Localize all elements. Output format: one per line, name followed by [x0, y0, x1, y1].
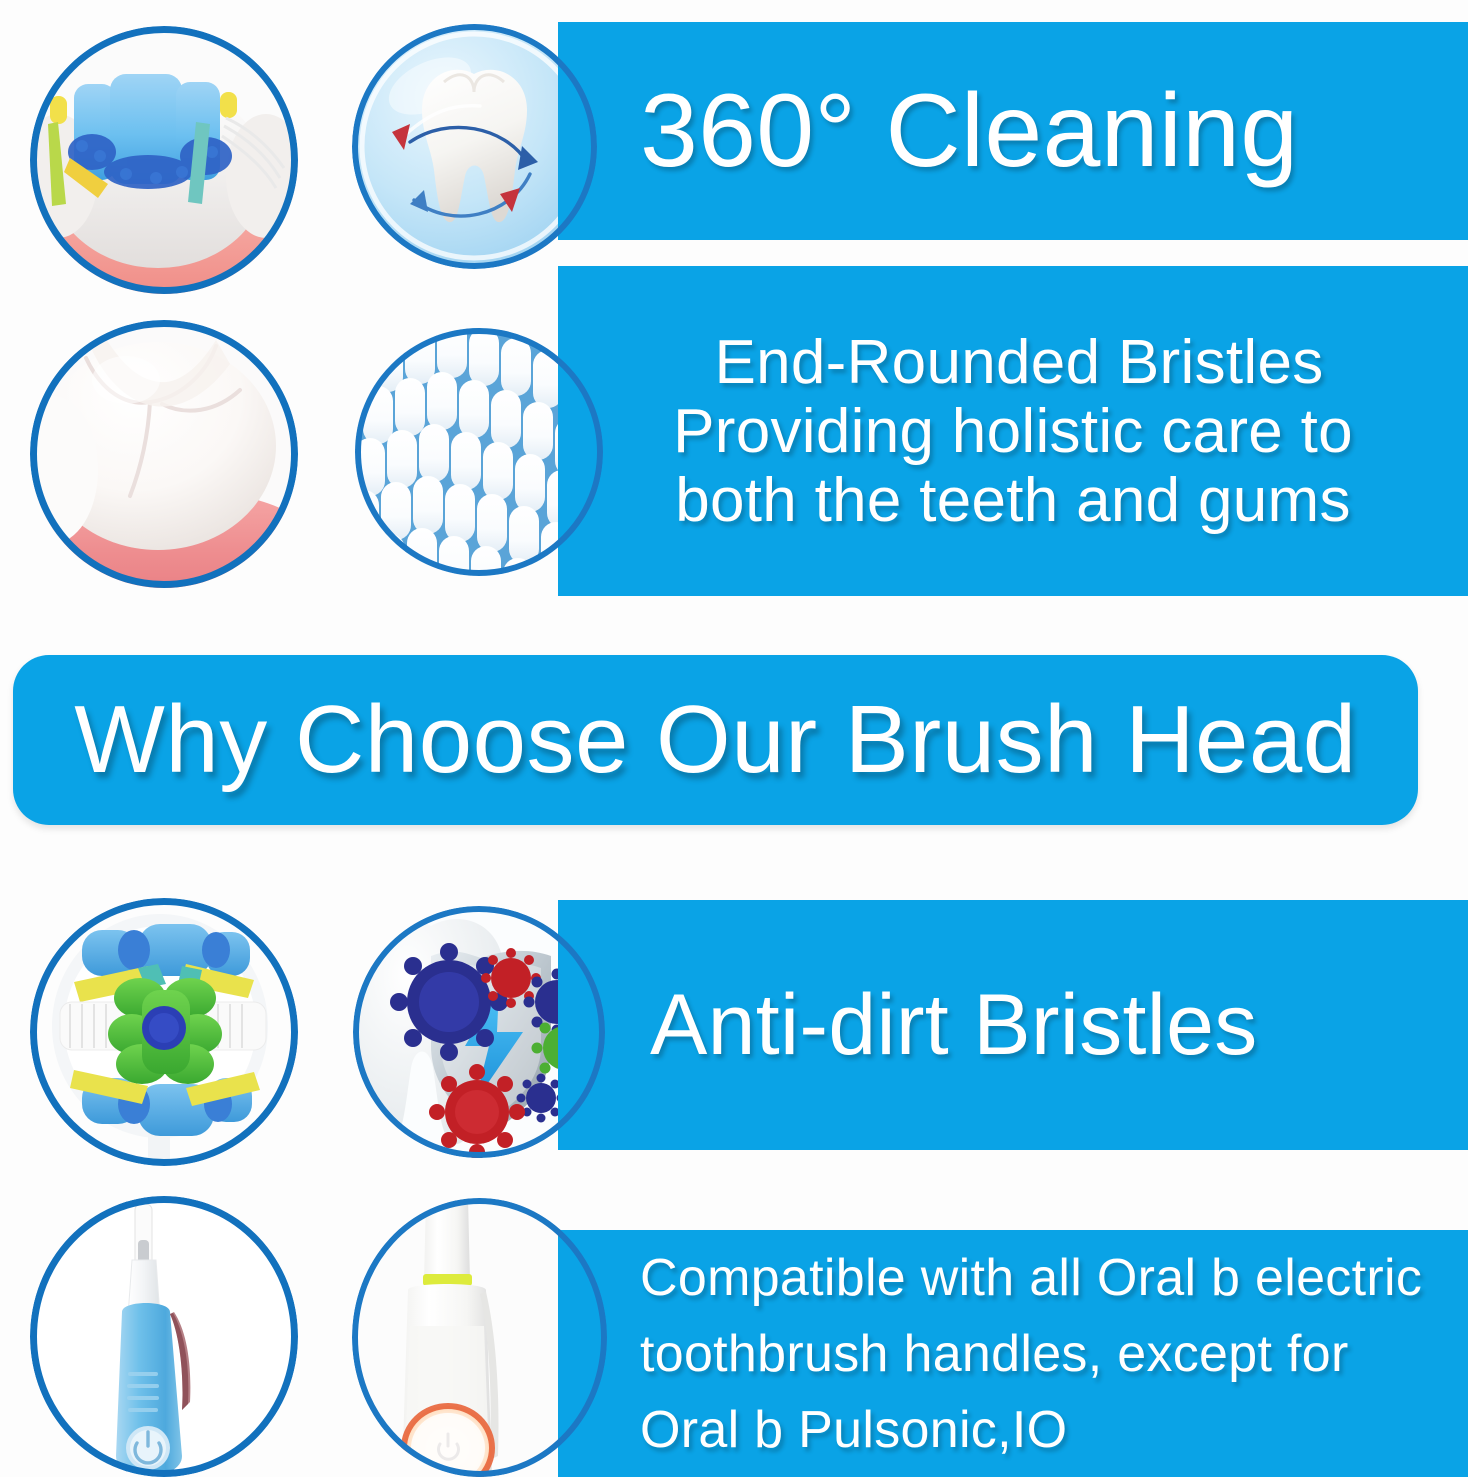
bristles-line-3: both the teeth and gums: [558, 466, 1468, 535]
compatibility-line-1: Compatible with all Oral b electric: [558, 1240, 1468, 1316]
compatibility-line-2: toothbrush handles, except for: [558, 1316, 1468, 1392]
heading-360-cleaning: 360° Cleaning: [558, 71, 1468, 191]
heading-anti-dirt: Anti-dirt Bristles: [558, 975, 1468, 1075]
panel-360-cleaning: 360° Cleaning: [558, 22, 1468, 240]
clean-molar-illustration: [30, 320, 298, 588]
infographic-page: 360° Cleaning: [0, 0, 1468, 1477]
banner-title: Why Choose Our Brush Head: [74, 690, 1356, 790]
brush-head-image: [30, 898, 298, 1166]
bristles-line-1: End-Rounded Bristles: [570, 328, 1468, 397]
bristles-line-2: Providing holistic care to: [558, 397, 1468, 466]
blue-toothbrush-handle-illustration: [30, 1196, 298, 1477]
panel-anti-dirt-bristles: Anti-dirt Bristles: [558, 900, 1468, 1150]
clean-molar-image: [30, 320, 298, 588]
compatibility-line-3: Oral b Pulsonic,IO: [558, 1392, 1468, 1468]
brush-head-illustration: [30, 898, 298, 1166]
panel-end-rounded-bristles: End-Rounded Bristles Providing holistic …: [558, 266, 1468, 596]
why-choose-banner: Why Choose Our Brush Head: [13, 655, 1418, 825]
panel-compatibility: Compatible with all Oral b electric toot…: [558, 1230, 1468, 1477]
bristle-gum-image: [30, 26, 298, 294]
bristle-gum-illustration: [30, 26, 298, 294]
blue-handle-image: [30, 1196, 298, 1477]
